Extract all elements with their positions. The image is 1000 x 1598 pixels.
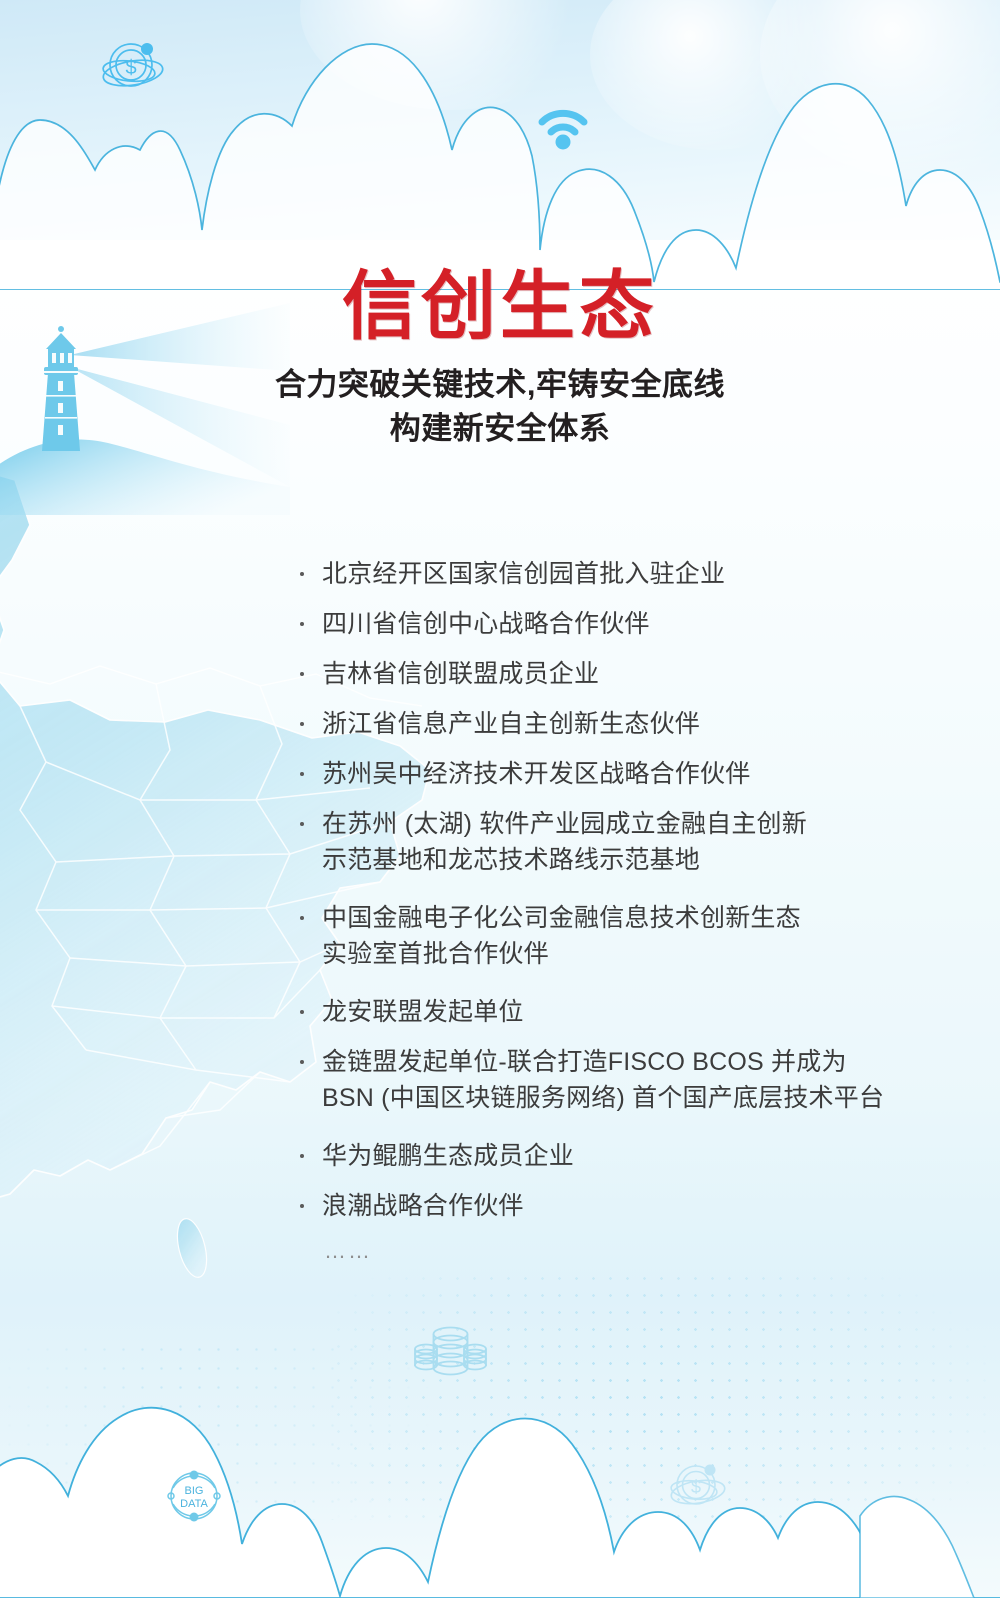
list-item-line: 吉林省信创联盟成员企业 (322, 656, 956, 692)
list-item-line: 龙安联盟发起单位 (322, 994, 956, 1030)
list-item-line: 华为鲲鹏生态成员企业 (322, 1138, 956, 1174)
list-item: 北京经开区国家信创园首批入驻企业 (296, 556, 956, 592)
list-item: 吉林省信创联盟成员企业 (296, 656, 956, 692)
list-item-line: 四川省信创中心战略合作伙伴 (322, 606, 956, 642)
list-item: 浙江省信息产业自主创新生态伙伴 (296, 706, 956, 742)
list-item: 金链盟发起单位-联合打造FISCO BCOS 并成为BSN (中国区块链服务网络… (296, 1044, 956, 1116)
dollar-coin-orbit-icon: $ (95, 35, 173, 105)
page-subtitle: 合力突破关键技术,牢铸安全底线 构建新安全体系 (0, 363, 1000, 451)
list-item: 在苏州 (太湖) 软件产业园成立金融自主创新示范基地和龙芯技术路线示范基地 (296, 806, 956, 878)
list-item: 龙安联盟发起单位 (296, 994, 956, 1030)
list-item: 中国金融电子化公司金融信息技术创新生态实验室首批合作伙伴 (296, 900, 956, 972)
subtitle-line-1: 合力突破关键技术,牢铸安全底线 (0, 363, 1000, 407)
list-ellipsis: …… (324, 1238, 956, 1264)
list-item-line: 金链盟发起单位-联合打造FISCO BCOS 并成为 (322, 1044, 956, 1080)
svg-text:$: $ (691, 1477, 701, 1497)
list-item-line: 苏州吴中经济技术开发区战略合作伙伴 (322, 756, 956, 792)
list-item-line: 实验室首批合作伙伴 (322, 936, 956, 972)
list-item-line: 在苏州 (太湖) 软件产业园成立金融自主创新 (322, 806, 956, 842)
list-item-line: 示范基地和龙芯技术路线示范基地 (322, 842, 956, 878)
list-item-line: 北京经开区国家信创园首批入驻企业 (322, 556, 956, 592)
big-data-label-line1: BIG (185, 1485, 204, 1497)
page-title: 信创生态 (0, 268, 1000, 345)
list-item-line: BSN (中国区块链服务网络) 首个国产底层技术平台 (322, 1080, 956, 1116)
coin-stack-icon (413, 1318, 488, 1380)
poster-canvas: $ (0, 0, 1000, 1598)
list-item: 浪潮战略合作伙伴 (296, 1188, 956, 1224)
big-data-label-line2: DATA (180, 1498, 208, 1510)
credentials-list: 北京经开区国家信创园首批入驻企业四川省信创中心战略合作伙伴吉林省信创联盟成员企业… (296, 556, 956, 1264)
heading-block: 信创生态 合力突破关键技术,牢铸安全底线 构建新安全体系 (0, 268, 1000, 451)
list-item-line: 浪潮战略合作伙伴 (322, 1188, 956, 1224)
dollar-coin-orbit-icon-bottom: $ (664, 1457, 732, 1519)
list-item: 华为鲲鹏生态成员企业 (296, 1138, 956, 1174)
subtitle-line-2: 构建新安全体系 (0, 407, 1000, 451)
list-item-line: 中国金融电子化公司金融信息技术创新生态 (322, 900, 956, 936)
big-data-icon: BIG DATA (161, 1463, 227, 1529)
svg-text:$: $ (125, 57, 136, 79)
list-item: 苏州吴中经济技术开发区战略合作伙伴 (296, 756, 956, 792)
list-item: 四川省信创中心战略合作伙伴 (296, 606, 956, 642)
list-item-line: 浙江省信息产业自主创新生态伙伴 (322, 706, 956, 742)
wifi-icon (534, 98, 592, 150)
